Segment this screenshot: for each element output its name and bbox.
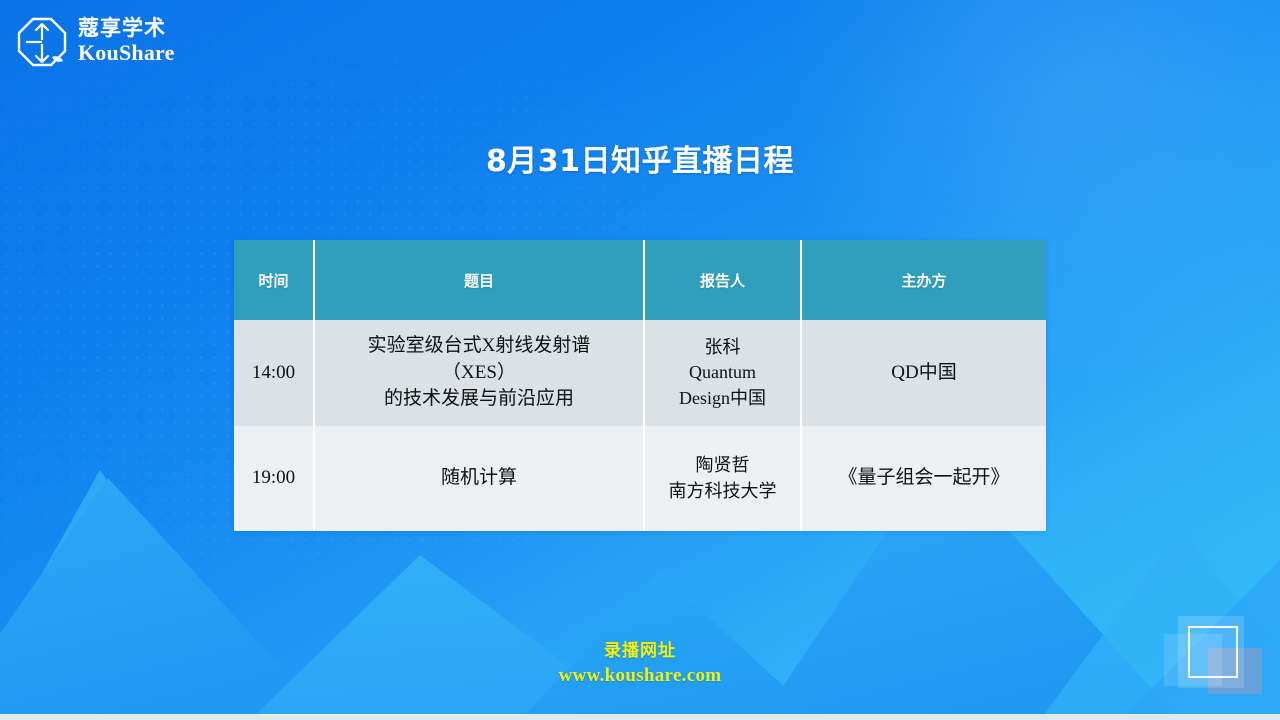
watermark-outline-square — [1188, 626, 1238, 678]
brand-wordmark: 蔻享学术 KouShare — [78, 18, 175, 66]
column-header-topic: 题目 — [315, 240, 645, 320]
cell-topic: 随机计算 — [315, 426, 645, 531]
cell-host: 《量子组会一起开》 — [802, 426, 1046, 531]
column-header-speaker: 报告人 — [645, 240, 802, 320]
topic-line: 随机计算 — [323, 465, 635, 492]
speaker-line: Design中国 — [653, 386, 792, 412]
corner-watermark — [1164, 608, 1268, 700]
table-row: 19:00 随机计算 陶贤哲 南方科技大学 《量子组会一起开》 — [234, 426, 1046, 531]
cell-speaker: 陶贤哲 南方科技大学 — [645, 426, 802, 531]
bottom-edge-strip — [0, 714, 1280, 720]
topic-line: 实验室级台式X射线发射谱 — [323, 333, 635, 360]
column-header-host: 主办方 — [802, 240, 1046, 320]
presentation-slide: 蔻享学术 KouShare 8月31日知乎直播日程 时间 题目 报告人 主办方 … — [0, 0, 1280, 720]
cell-host: QD中国 — [802, 320, 1046, 426]
footer-block: 录播网址 www.koushare.com — [0, 636, 1280, 687]
brand-name-cn: 蔻享学术 — [78, 18, 175, 39]
footer-url-link[interactable]: www.koushare.com — [0, 665, 1280, 687]
topic-line: （XES） — [323, 360, 635, 387]
cell-topic: 实验室级台式X射线发射谱 （XES） 的技术发展与前沿应用 — [315, 320, 645, 426]
koushare-diamond-logo-icon — [16, 16, 68, 68]
slide-title: 8月31日知乎直播日程 — [0, 136, 1280, 180]
table-row: 14:00 实验室级台式X射线发射谱 （XES） 的技术发展与前沿应用 张科 Q… — [234, 320, 1046, 426]
table-header-row: 时间 题目 报告人 主办方 — [234, 240, 1046, 320]
speaker-line: 张科 — [653, 335, 792, 361]
brand-name-en: KouShare — [78, 42, 175, 64]
column-header-time: 时间 — [234, 240, 315, 320]
cell-speaker: 张科 Quantum Design中国 — [645, 320, 802, 426]
brand-logo[interactable]: 蔻享学术 KouShare — [16, 16, 175, 68]
cell-time: 19:00 — [234, 426, 315, 531]
footer-label: 录播网址 — [0, 636, 1280, 661]
speaker-line: 南方科技大学 — [653, 479, 792, 505]
schedule-table: 时间 题目 报告人 主办方 14:00 实验室级台式X射线发射谱 （XES） 的… — [234, 240, 1046, 531]
speaker-line: Quantum — [653, 360, 792, 386]
cell-time: 14:00 — [234, 320, 315, 426]
topic-line: 的技术发展与前沿应用 — [323, 386, 635, 413]
speaker-line: 陶贤哲 — [653, 453, 792, 479]
